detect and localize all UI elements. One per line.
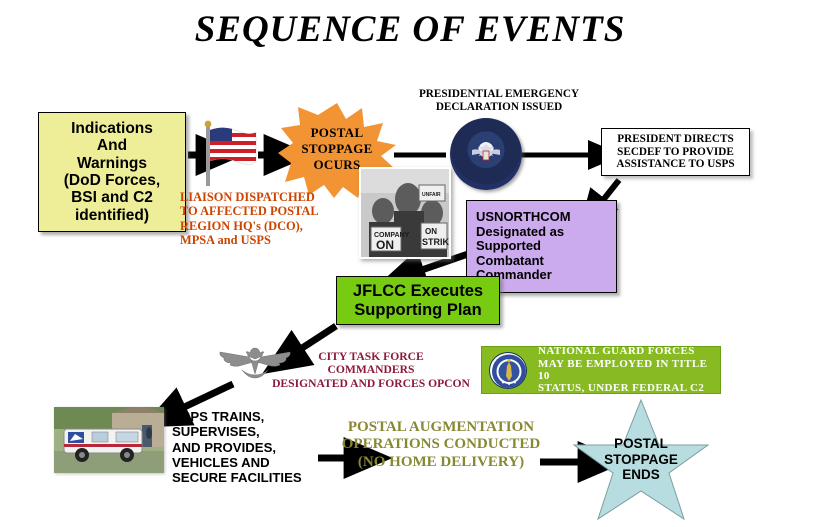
annotation-city-task-force: CITY TASK FORCE COMMANDERS DESIGNATED AN…: [258, 350, 484, 390]
nc-line-4: Combatant: [476, 254, 571, 269]
endstar-label: POSTAL STOPPAGE ENDS: [568, 436, 714, 483]
annotation-liaison-dispatched: LIAISON DISPATCHED TO AFFECTED POSTAL RE…: [180, 190, 340, 248]
liaison-line-3: REGION HQ's (DCO),: [180, 219, 340, 233]
starburst-line-2: STOPPAGE: [278, 141, 396, 157]
svg-text:ON: ON: [425, 227, 437, 236]
nc-line-1: USNORTHCOM: [476, 210, 571, 225]
usps-line-5: SECURE FACILITIES: [172, 470, 322, 485]
star-postal-stoppage-ends: POSTAL STOPPAGE ENDS: [568, 398, 714, 522]
jflcc-line-2: Supporting Plan: [353, 301, 483, 319]
annotation-presidential-declaration: PRESIDENTIAL EMERGENCY DECLARATION ISSUE…: [404, 88, 594, 114]
ctf-line-3: DESIGNATED AND FORCES OPCON: [258, 377, 484, 390]
usps-line-4: VEHICLES AND: [172, 455, 322, 470]
annotation-postal-augmentation: POSTAL AUGMENTATION OPERATIONS CONDUCTED…: [330, 419, 552, 471]
aug-line-3: (NO HOME DELIVERY): [330, 454, 552, 471]
jflcc-line-1: JFLCC Executes: [353, 282, 483, 300]
endstar-line-1: POSTAL: [568, 436, 714, 452]
ng-line-2: MAY BE EMPLOYED IN TITLE 10: [538, 358, 720, 383]
box-jflcc-executes-supporting-plan: JFLCC Executes Supporting Plan: [336, 276, 500, 325]
starburst-label: POSTAL STOPPAGE OCURS: [278, 125, 396, 173]
usps-line-1: USPS TRAINS,: [172, 409, 322, 424]
ctf-line-2: COMMANDERS: [258, 363, 484, 376]
nc-line-2: Designated as: [476, 225, 571, 240]
liaison-line-2: TO AFFECTED POSTAL: [180, 204, 340, 218]
iw-line-2: And: [64, 137, 160, 154]
box-president-directs-secdef: PRESIDENT DIRECTS SECDEF TO PROVIDE ASSI…: [601, 128, 750, 176]
ctf-line-1: CITY TASK FORCE: [258, 350, 484, 363]
usps-mail-truck-photo: [54, 407, 164, 473]
presidential-seal-icon: [450, 118, 522, 190]
postal-strike-photo: COMPANY ON ON STRIKE UNFAIR: [359, 167, 451, 259]
svg-text:STRIKE: STRIKE: [422, 237, 451, 247]
liaison-line-4: MPSA and USPS: [180, 233, 340, 247]
iw-line-1: Indications: [64, 120, 160, 137]
annotation-usps-trains: USPS TRAINS, SUPERVISES, AND PROVIDES, V…: [172, 409, 322, 486]
endstar-line-3: ENDS: [568, 467, 714, 483]
presdir-line-3: ASSISTANCE TO USPS: [616, 158, 734, 171]
ng-line-3: STATUS, UNDER FEDERAL C2: [538, 382, 720, 394]
box-indications-and-warnings: Indications And Warnings (DoD Forces, BS…: [38, 112, 186, 232]
iw-line-4: (DoD Forces,: [64, 172, 160, 189]
presdir-line-2: SECDEF TO PROVIDE: [616, 146, 734, 159]
endstar-line-2: STOPPAGE: [568, 452, 714, 468]
starburst-line-1: POSTAL: [278, 125, 396, 141]
us-flag-icon: [196, 118, 258, 188]
liaison-line-1: LIAISON DISPATCHED: [180, 190, 340, 204]
svg-text:ON: ON: [376, 238, 394, 252]
presdecl-line-1: PRESIDENTIAL EMERGENCY: [404, 88, 594, 101]
national-guard-seal-icon: [489, 352, 527, 389]
ng-line-1: NATIONAL GUARD FORCES: [538, 345, 720, 357]
iw-line-3: Warnings: [64, 155, 160, 172]
aug-line-1: POSTAL AUGMENTATION: [330, 419, 552, 436]
aug-line-2: OPERATIONS CONDUCTED: [330, 436, 552, 453]
nc-line-3: Supported: [476, 239, 571, 254]
presdir-line-1: PRESIDENT DIRECTS: [616, 133, 734, 146]
diagram-canvas: SEQUENCE OF EVENTS Indications An: [0, 0, 820, 522]
usps-line-3: AND PROVIDES,: [172, 440, 322, 455]
iw-line-6: identified): [64, 207, 160, 224]
iw-line-5: BSI and C2: [64, 189, 160, 206]
usps-line-2: SUPERVISES,: [172, 424, 322, 439]
presdecl-line-2: DECLARATION ISSUED: [404, 101, 594, 114]
svg-text:UNFAIR: UNFAIR: [422, 192, 441, 198]
